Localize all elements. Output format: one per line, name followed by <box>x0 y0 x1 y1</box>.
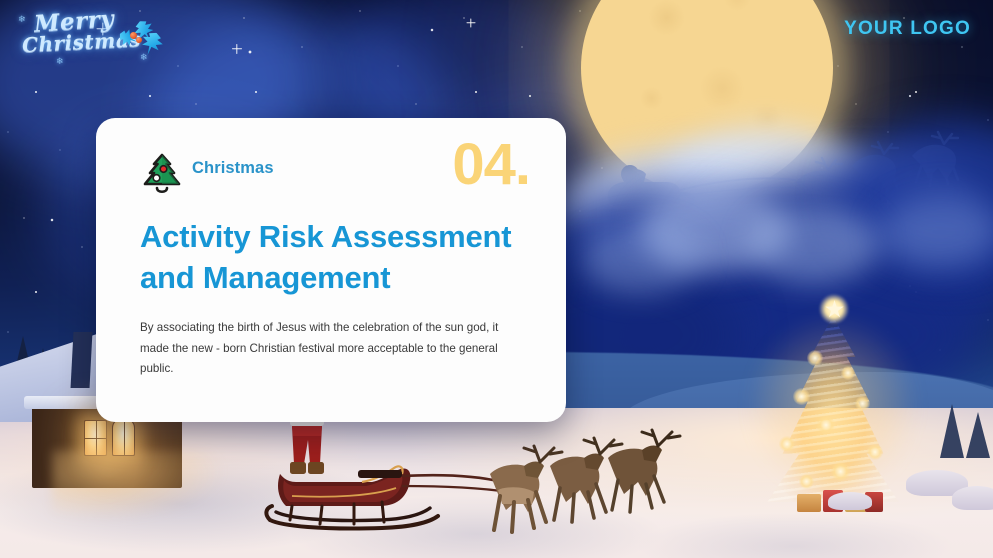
gift-box <box>845 496 867 512</box>
santa-sleigh-scene <box>262 400 682 558</box>
sleigh-reindeer-svg <box>600 120 990 240</box>
cabin-chimney <box>71 332 93 388</box>
reindeer <box>490 446 562 532</box>
your-logo-text[interactable]: YOUR LOGO <box>844 18 971 40</box>
reindeer <box>608 430 680 512</box>
lit-christmas-tree <box>745 292 920 517</box>
pine-tree <box>940 404 964 458</box>
gift-box <box>797 494 821 512</box>
card-header: Christmas 04. <box>140 148 536 210</box>
slide-canvas: Merry Christmas ❄ ❄ ❄ YOUR LOGO <box>0 0 993 558</box>
content-card: Christmas 04. Activity Risk Assessment a… <box>96 118 566 422</box>
merry-christmas-logo[interactable]: Merry Christmas ❄ ❄ ❄ <box>16 8 166 64</box>
cabin-window <box>112 418 135 456</box>
snowflake-icon: ❄ <box>18 14 26 25</box>
pine-tree <box>966 412 990 458</box>
card-number: 04. <box>452 136 530 194</box>
santa-sleigh-svg <box>262 400 682 558</box>
holly-leaf-icon <box>120 20 166 56</box>
tree-needles <box>763 316 903 502</box>
gift-box <box>823 490 843 512</box>
christmas-tree-svg <box>140 152 185 200</box>
christmas-tree-icon <box>140 152 185 200</box>
gift-boxes <box>797 486 883 512</box>
gift-box <box>865 492 883 512</box>
card-title: Activity Risk Assessment and Management <box>140 216 550 298</box>
sky-sleigh-silhouette <box>600 120 990 240</box>
card-eyebrow-label: Christmas <box>192 159 274 178</box>
cabin-window <box>84 420 107 456</box>
card-body-text: By associating the birth of Jesus with t… <box>140 318 522 380</box>
